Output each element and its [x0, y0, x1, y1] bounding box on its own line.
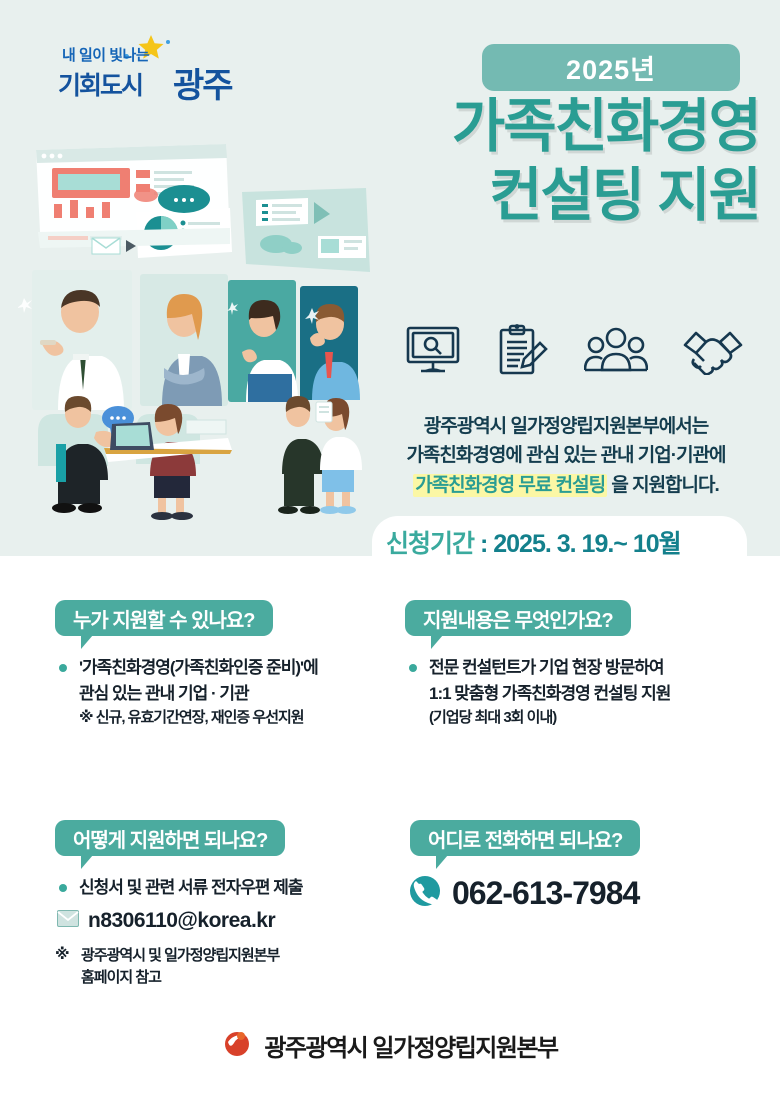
description-line-3-rest: 을 지원합니다. — [607, 475, 719, 496]
phone-number[interactable]: 062-613-7984 — [452, 875, 639, 912]
gwangju-emblem-icon — [222, 1028, 252, 1063]
question-label-2: 지원내용은 무엇인가요? — [423, 604, 613, 633]
answer-note-1: ※ 신규, 유효기간연장, 재인증 우선지원 — [79, 707, 375, 729]
answer-line-1b: 관심 있는 관내 기업 · 기관 — [79, 681, 375, 707]
footer-text: 광주광역시 일가정양립지원본부 — [264, 1028, 557, 1063]
poster-root: 내 일이 빛나는 기회도시 광주 — [0, 0, 780, 1097]
question-bubble-support-content: 지원내용은 무엇인가요? — [405, 600, 631, 636]
brand-tagline: 내 일이 빛나는 — [62, 44, 149, 65]
question-label-3: 어떻게 지원하면 되나요? — [73, 824, 267, 853]
question-label-4: 어디로 전화하면 되나요? — [428, 824, 622, 853]
answer-block-how-to-apply: 신청서 및 관련 서류 전자우편 제출 n8306110@korea.kr ※ … — [55, 875, 385, 988]
monitor-search-icon — [404, 324, 462, 376]
description-line-2: 가족친화경영에 관심 있는 관내 기업·기관에 — [376, 441, 756, 470]
application-period-text: 신청기간 : 2025. 3. 19.~ 10월 — [386, 524, 746, 560]
question-label-1: 누가 지원할 수 있나요? — [73, 604, 255, 633]
description-line-3: 가족친화경영 무료 컨설팅 을 지원합니다. — [376, 471, 756, 500]
answer-line-2b: 1:1 맞춤형 가족친화경영 컨설팅 지원 — [429, 681, 745, 707]
note-marker-icon: ※ — [55, 945, 70, 963]
answer-block-eligibility: '가족친화경영(가족친화인증 준비)'에 관심 있는 관내 기업 · 기관 ※ … — [55, 655, 375, 728]
answer-block-contact: 062-613-7984 — [410, 875, 740, 912]
handshake-icon — [682, 325, 744, 375]
answer-line-1a: '가족친화경영(가족친화인증 준비)'에 — [79, 655, 375, 681]
answer-note-3b: 홈페이지 참고 — [81, 967, 385, 989]
clipboard-pencil-icon — [496, 323, 550, 377]
list-item: 신청서 및 관련 서류 전자우편 제출 — [55, 875, 385, 901]
answer-note-2: (기업당 최대 3회 이내) — [429, 707, 745, 729]
people-group-icon — [584, 325, 648, 375]
footer: 광주광역시 일가정양립지원본부 — [0, 1028, 780, 1063]
application-period-value: : 2025. 3. 19.~ 10월 — [474, 530, 681, 558]
list-item: 전문 컨설턴트가 기업 현장 방문하여 1:1 맞춤형 가족친화경영 컨설팅 지… — [405, 655, 745, 728]
question-bubble-eligibility: 누가 지원할 수 있나요? — [55, 600, 273, 636]
description-highlight: 가족친화경영 무료 컨설팅 — [413, 474, 607, 497]
email-row[interactable]: n8306110@korea.kr — [55, 909, 385, 933]
phone-row[interactable]: 062-613-7984 — [410, 875, 740, 912]
year-badge: 2025년 — [482, 44, 740, 91]
title-line-1: 가족친화경영 — [330, 96, 760, 159]
page-title: 가족친화경영 컨설팅 지원 — [330, 96, 760, 227]
brand-sub: 기회도시 — [58, 66, 142, 102]
feature-icon-row — [404, 318, 744, 382]
list-item: '가족친화경영(가족친화인증 준비)'에 관심 있는 관내 기업 · 기관 ※ … — [55, 655, 375, 728]
application-period-label: 신청기간 — [386, 530, 474, 558]
answer-line-2a: 전문 컨설턴트가 기업 현장 방문하여 — [429, 655, 745, 681]
year-badge-label: 2025년 — [566, 48, 656, 87]
answer-note-3a: 광주광역시 및 일가정양립지원본부 — [81, 945, 385, 967]
email-address[interactable]: n8306110@korea.kr — [88, 909, 275, 933]
envelope-icon — [57, 910, 79, 932]
brand-city: 광주 — [173, 58, 232, 107]
brand-dot-2 — [166, 40, 170, 44]
phone-icon — [410, 876, 440, 911]
description-block: 광주광역시 일가정양립지원본부에서는 가족친화경영에 관심 있는 관내 기업·기… — [376, 412, 756, 500]
question-bubble-how-to-apply: 어떻게 지원하면 되나요? — [55, 820, 285, 856]
description-line-1: 광주광역시 일가정양립지원본부에서는 — [376, 412, 756, 441]
gwangju-brand-logo: 내 일이 빛나는 기회도시 광주 — [58, 28, 248, 100]
question-bubble-contact: 어디로 전화하면 되나요? — [410, 820, 640, 856]
answer-line-3a: 신청서 및 관련 서류 전자우편 제출 — [79, 875, 385, 901]
answer-block-support-content: 전문 컨설턴트가 기업 현장 방문하여 1:1 맞춤형 가족친화경영 컨설팅 지… — [405, 655, 745, 728]
title-line-2: 컨설팅 지원 — [330, 165, 760, 228]
answer-note-3: ※ 광주광역시 및 일가정양립지원본부 홈페이지 참고 — [55, 945, 385, 989]
